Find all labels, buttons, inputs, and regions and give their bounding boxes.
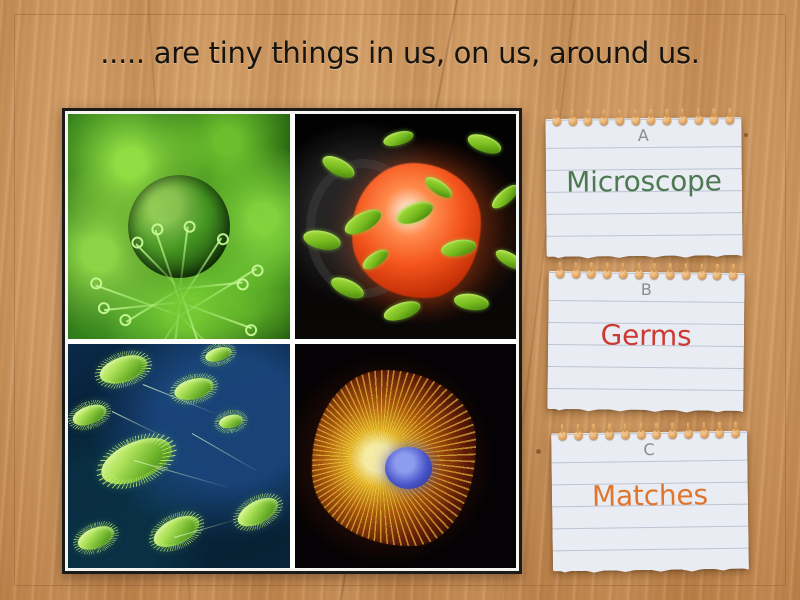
spiral-ring-icon — [731, 429, 740, 438]
answer-text-c: Matches — [552, 478, 748, 514]
cell-nucleus-icon — [385, 447, 432, 490]
virus-body-icon — [128, 175, 230, 278]
image-cell-top-right — [295, 114, 517, 339]
ecoli-bacterium-icon — [217, 413, 244, 431]
spiral-ring-icon — [713, 271, 722, 280]
spiral-ring-icon — [637, 430, 646, 439]
spiral-ring-icon — [710, 115, 719, 124]
spiral-ring-icon — [631, 116, 640, 125]
virus-spike-icon — [130, 316, 180, 339]
spiral-ring-icon — [589, 431, 598, 440]
question-prompt: ..... are tiny things in us, on us, arou… — [0, 36, 800, 70]
ecoli-bacterium-icon — [74, 521, 116, 554]
bacteria-rod-icon — [489, 181, 516, 213]
spiral-ring-icon — [568, 117, 577, 126]
spiral-ring-icon — [618, 270, 627, 279]
spiral-ring-icon — [621, 430, 630, 439]
spiral-ring-icon — [647, 116, 656, 125]
answer-letter-a: A — [545, 125, 741, 146]
answer-card-b[interactable]: B Germs — [547, 271, 744, 411]
ecoli-bacterium-icon — [204, 345, 233, 365]
spiral-ring-icon — [603, 270, 612, 279]
spiral-ring-icon — [574, 431, 583, 440]
spiral-binding-icon — [551, 422, 747, 441]
ecoli-bacterium-icon — [234, 492, 284, 533]
spiral-ring-icon — [584, 116, 593, 125]
answer-text-a: Microscope — [546, 164, 742, 199]
spiral-ring-icon — [697, 271, 706, 280]
bacteria-rod-icon — [453, 291, 490, 311]
spiral-ring-icon — [571, 269, 580, 278]
virus-spike-icon — [180, 282, 243, 290]
quiz-stage: ..... are tiny things in us, on us, arou… — [0, 0, 800, 600]
image-cell-bottom-right — [295, 344, 517, 569]
spiral-ring-icon — [605, 430, 614, 439]
ecoli-bacterium-icon — [96, 350, 150, 389]
desk-speck — [536, 449, 541, 454]
spiral-ring-icon — [684, 429, 693, 438]
spiral-ring-icon — [650, 270, 659, 279]
image-cell-bottom-left — [68, 344, 290, 569]
flagellum-icon — [192, 433, 258, 472]
spiral-ring-icon — [599, 116, 608, 125]
answer-card-a[interactable]: A Microscope — [545, 117, 742, 257]
flagellum-icon — [112, 411, 164, 437]
image-grid — [68, 114, 516, 568]
answer-letter-b: B — [548, 279, 744, 300]
ecoli-bacterium-icon — [70, 401, 109, 430]
spiral-ring-icon — [555, 269, 564, 278]
spiral-ring-icon — [700, 429, 709, 438]
spiral-ring-icon — [715, 429, 724, 438]
spiral-ring-icon — [552, 117, 561, 126]
spiral-binding-icon — [545, 108, 741, 126]
spiral-ring-icon — [587, 269, 596, 278]
spiral-ring-icon — [634, 270, 643, 279]
spiral-ring-icon — [652, 430, 661, 439]
bacteria-rod-icon — [382, 128, 415, 149]
bacteria-rod-icon — [382, 297, 423, 324]
answer-text-b: Germs — [548, 318, 744, 353]
spiral-ring-icon — [615, 116, 624, 125]
spiral-ring-icon — [663, 116, 672, 125]
spiral-ring-icon — [726, 115, 735, 124]
image-cell-top-left — [68, 114, 290, 339]
bacteria-rod-icon — [466, 131, 505, 158]
macrophage-body-icon — [352, 163, 480, 298]
bacteria-rod-icon — [493, 246, 516, 273]
spiral-ring-icon — [682, 270, 691, 279]
spiral-ring-icon — [729, 271, 738, 280]
answer-card-c[interactable]: C Matches — [551, 431, 749, 572]
image-grid-panel — [62, 108, 522, 574]
desk-speck — [744, 133, 748, 137]
spiral-ring-icon — [668, 430, 677, 439]
spiral-binding-icon — [549, 262, 745, 280]
spiral-ring-icon — [694, 115, 703, 124]
spiral-ring-icon — [678, 116, 687, 125]
answer-letter-c: C — [551, 439, 747, 461]
spiral-ring-icon — [558, 431, 567, 440]
spiral-ring-icon — [666, 270, 675, 279]
